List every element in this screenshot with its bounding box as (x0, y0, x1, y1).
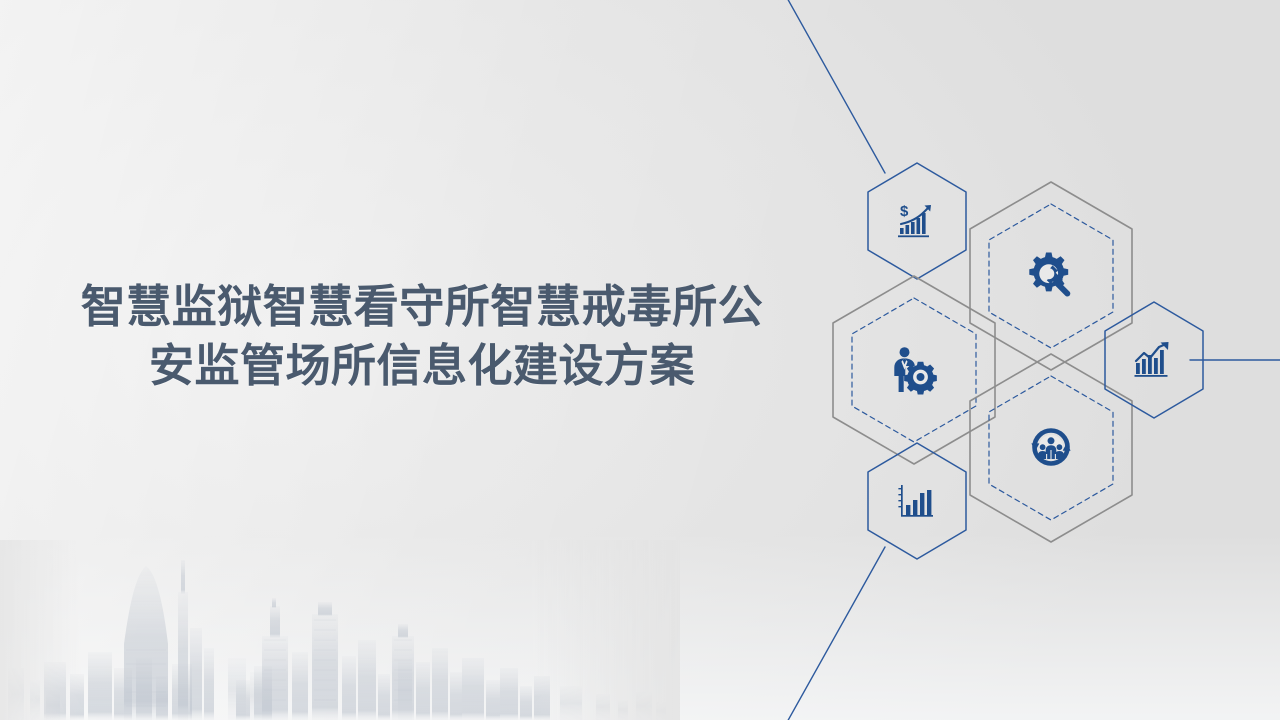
hex-small-bar-chart[interactable] (855, 439, 979, 563)
hexagon-cluster: $ (800, 120, 1280, 600)
page-title: 智慧监狱智慧看守所智慧戒毒所公 安监管场所信息化建设方案 (52, 278, 792, 395)
title-line-2: 安监管场所信息化建设方案 (52, 337, 792, 396)
hex-small-trend-growth[interactable] (1092, 298, 1216, 422)
city-skyline-watermark (0, 540, 680, 720)
slide-canvas: 智慧监狱智慧看守所智慧戒毒所公 安监管场所信息化建设方案 $ (0, 0, 1280, 720)
title-line-1: 智慧监狱智慧看守所智慧戒毒所公 (52, 278, 792, 337)
